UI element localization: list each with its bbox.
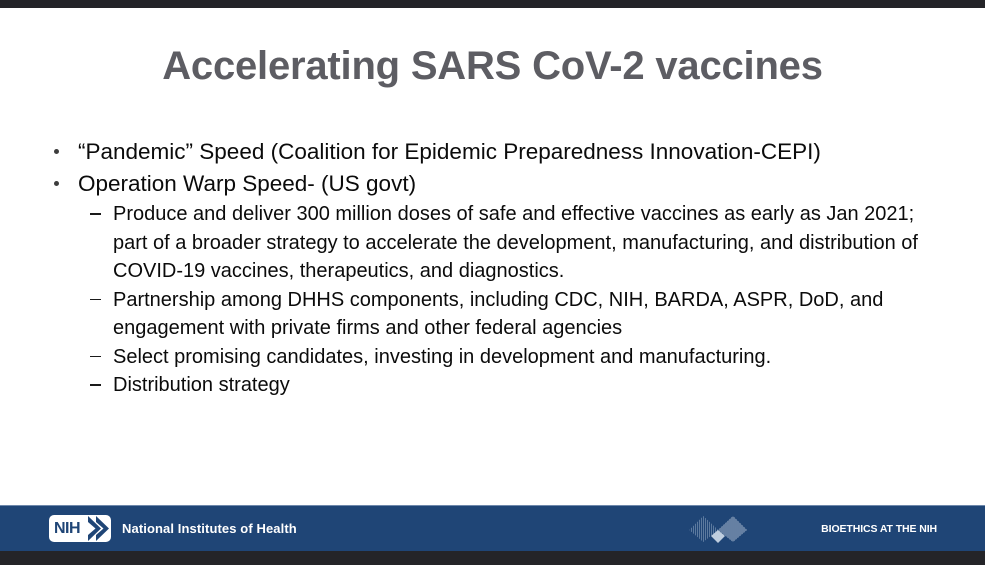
bullet-text: “Pandemic” Speed (Coalition for Epidemic… <box>78 139 821 164</box>
page-title: Accelerating SARS CoV-2 vaccines <box>0 44 985 89</box>
nih-chevron-icon <box>87 515 109 542</box>
nih-badge: NIH <box>49 515 111 542</box>
slide-top-border <box>0 0 985 8</box>
bullet-dash-icon <box>90 384 101 386</box>
list-item: Select promising candidates, investing i… <box>44 343 944 372</box>
list-item: Partnership among DHHS components, inclu… <box>44 286 944 343</box>
sub-bullet-text: Partnership among DHHS components, inclu… <box>113 289 883 340</box>
list-item: “Pandemic” Speed (Coalition for Epidemic… <box>44 136 944 168</box>
list-item: Produce and deliver 300 million doses of… <box>44 200 944 286</box>
list-item: Distribution strategy <box>44 371 944 400</box>
nih-logo: NIH National Institutes of Health <box>49 515 297 542</box>
slide-bottom-border <box>0 551 985 565</box>
slide-body-content: “Pandemic” Speed (Coalition for Epidemic… <box>44 136 944 400</box>
sub-bullet-text: Produce and deliver 300 million doses of… <box>113 203 918 282</box>
bullet-text: Operation Warp Speed- (US govt) <box>78 171 416 196</box>
nih-abbreviation: NIH <box>54 520 80 538</box>
bioethics-label: BIOETHICS AT THE NIH <box>821 512 937 546</box>
list-item: Operation Warp Speed- (US govt) <box>44 168 944 200</box>
bullet-list-level1: “Pandemic” Speed (Coalition for Epidemic… <box>44 136 944 200</box>
nih-full-name: National Institutes of Health <box>122 521 297 536</box>
bullet-dash-icon <box>90 213 101 215</box>
sub-bullet-text: Select promising candidates, investing i… <box>113 346 771 368</box>
bullet-list-level2: Produce and deliver 300 million doses of… <box>44 200 944 400</box>
presentation-slide: Accelerating SARS CoV-2 vaccines “Pandem… <box>0 0 985 565</box>
slide-footer: NIH National Institutes of Health <box>0 505 985 552</box>
bullet-dot-icon <box>54 149 59 154</box>
bioethics-open-book-icon <box>687 512 749 546</box>
bullet-dash-icon <box>90 299 101 301</box>
bullet-dot-icon <box>54 181 59 186</box>
sub-bullet-text: Distribution strategy <box>113 374 290 396</box>
bioethics-logo: BIOETHICS AT THE NIH <box>687 512 937 546</box>
bullet-dash-icon <box>90 356 101 358</box>
